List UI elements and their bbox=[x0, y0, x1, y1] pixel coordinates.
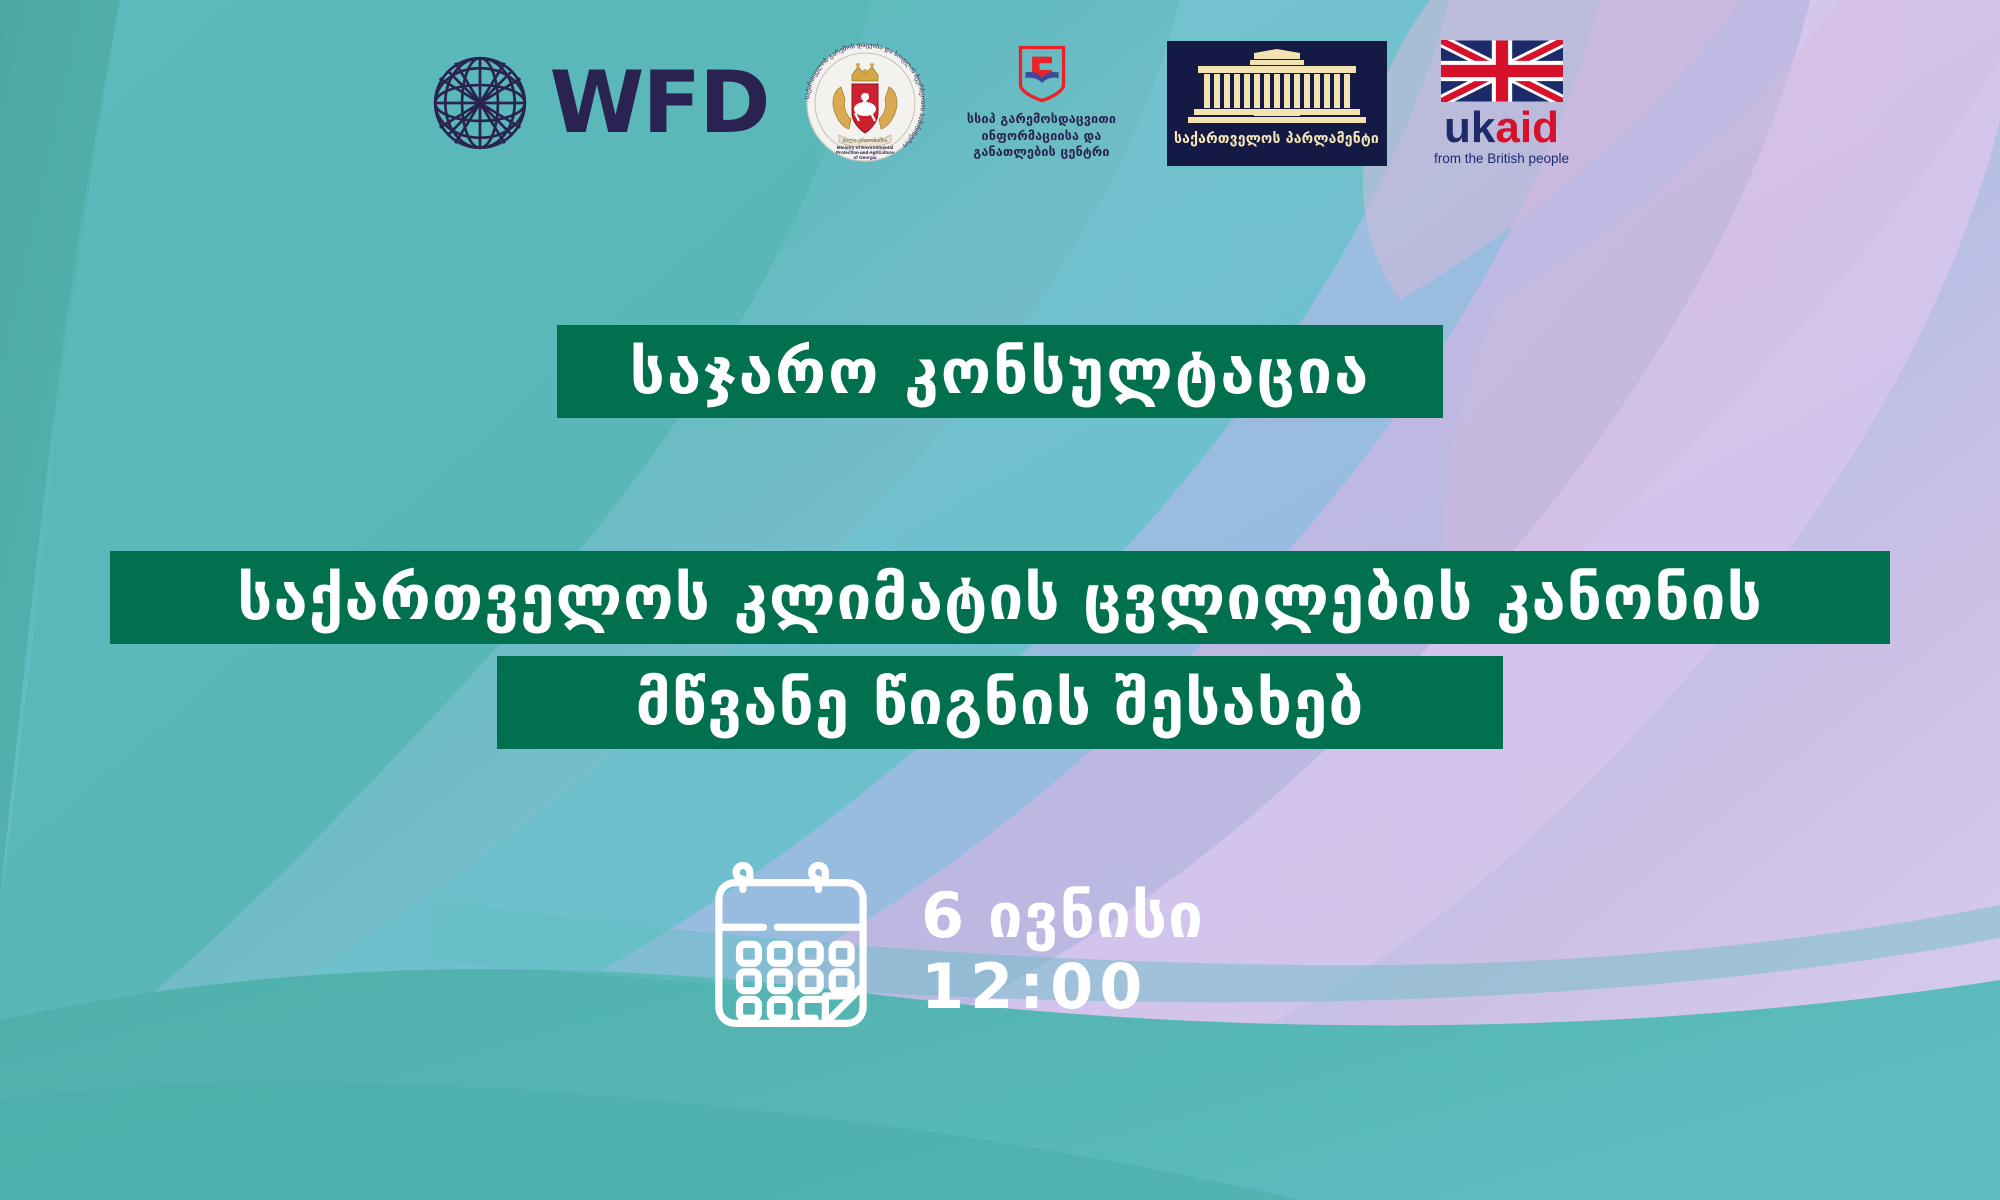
ukaid-wordmark: ukaid bbox=[1444, 106, 1559, 150]
info-centre-line-1: სსიპ გარემოსდაცვითი bbox=[967, 111, 1116, 128]
headline-title-banner: საჯარო კონსულტაცია bbox=[557, 325, 1443, 418]
logo-ministry-of-environment: ძალა ერთობაშია საქართველოს გარემოს დაცვი… bbox=[805, 43, 947, 163]
logo-wfd: WFD bbox=[424, 47, 769, 159]
union-jack-flag-icon bbox=[1441, 40, 1563, 102]
svg-text:of Georgia: of Georgia bbox=[853, 155, 876, 160]
parliament-caption: საქართველოს პარლამენტი bbox=[1174, 131, 1379, 147]
event-datetime-block: 6 ივნისი 12:00 bbox=[705, 862, 1204, 1044]
book-shield-mark-icon bbox=[1016, 45, 1068, 103]
info-centre-line-3: განათლების ცენტრი bbox=[967, 144, 1116, 161]
event-time: 12:00 bbox=[921, 950, 1204, 1023]
wfd-wordmark: WFD bbox=[550, 60, 769, 146]
headline-subtitle-banner-line-1: საქართველოს კლიმატის ცვლილების კანონის bbox=[110, 551, 1890, 644]
headline-subtitle-banner-line-2: მწვანე წიგნის შესახებ bbox=[497, 656, 1503, 749]
info-centre-line-2: ინფორმაციისა და bbox=[967, 128, 1116, 145]
info-centre-caption: სსიპ გარემოსდაცვითი ინფორმაციისა და განა… bbox=[967, 111, 1116, 161]
logo-environmental-information-centre: სსიპ გარემოსდაცვითი ინფორმაციისა და განა… bbox=[947, 45, 1137, 161]
globe-wireframe-icon bbox=[424, 47, 536, 159]
parliament-building-icon bbox=[1182, 49, 1372, 129]
georgia-coat-of-arms-seal: ძალა ერთობაშია საქართველოს გარემოს დაცვი… bbox=[805, 43, 925, 163]
event-datetime-text: 6 ივნისი 12:00 bbox=[921, 883, 1204, 1023]
logo-parliament-of-georgia: საქართველოს პარლამენტი bbox=[1167, 41, 1387, 166]
ukaid-aid-text: aid bbox=[1495, 103, 1559, 152]
svg-text:ძალა ერთობაშია: ძალა ერთობაშია bbox=[842, 137, 887, 144]
ukaid-subtitle: from the British people bbox=[1434, 151, 1569, 166]
logo-ukaid: ukaid from the British people bbox=[1427, 40, 1577, 166]
calendar-icon bbox=[705, 862, 877, 1044]
event-date: 6 ივნისი bbox=[921, 883, 1204, 950]
logo-strip: WFD bbox=[0, 28, 2000, 178]
poster-canvas: WFD bbox=[0, 0, 2000, 1200]
ukaid-uk-text: uk bbox=[1444, 103, 1495, 152]
